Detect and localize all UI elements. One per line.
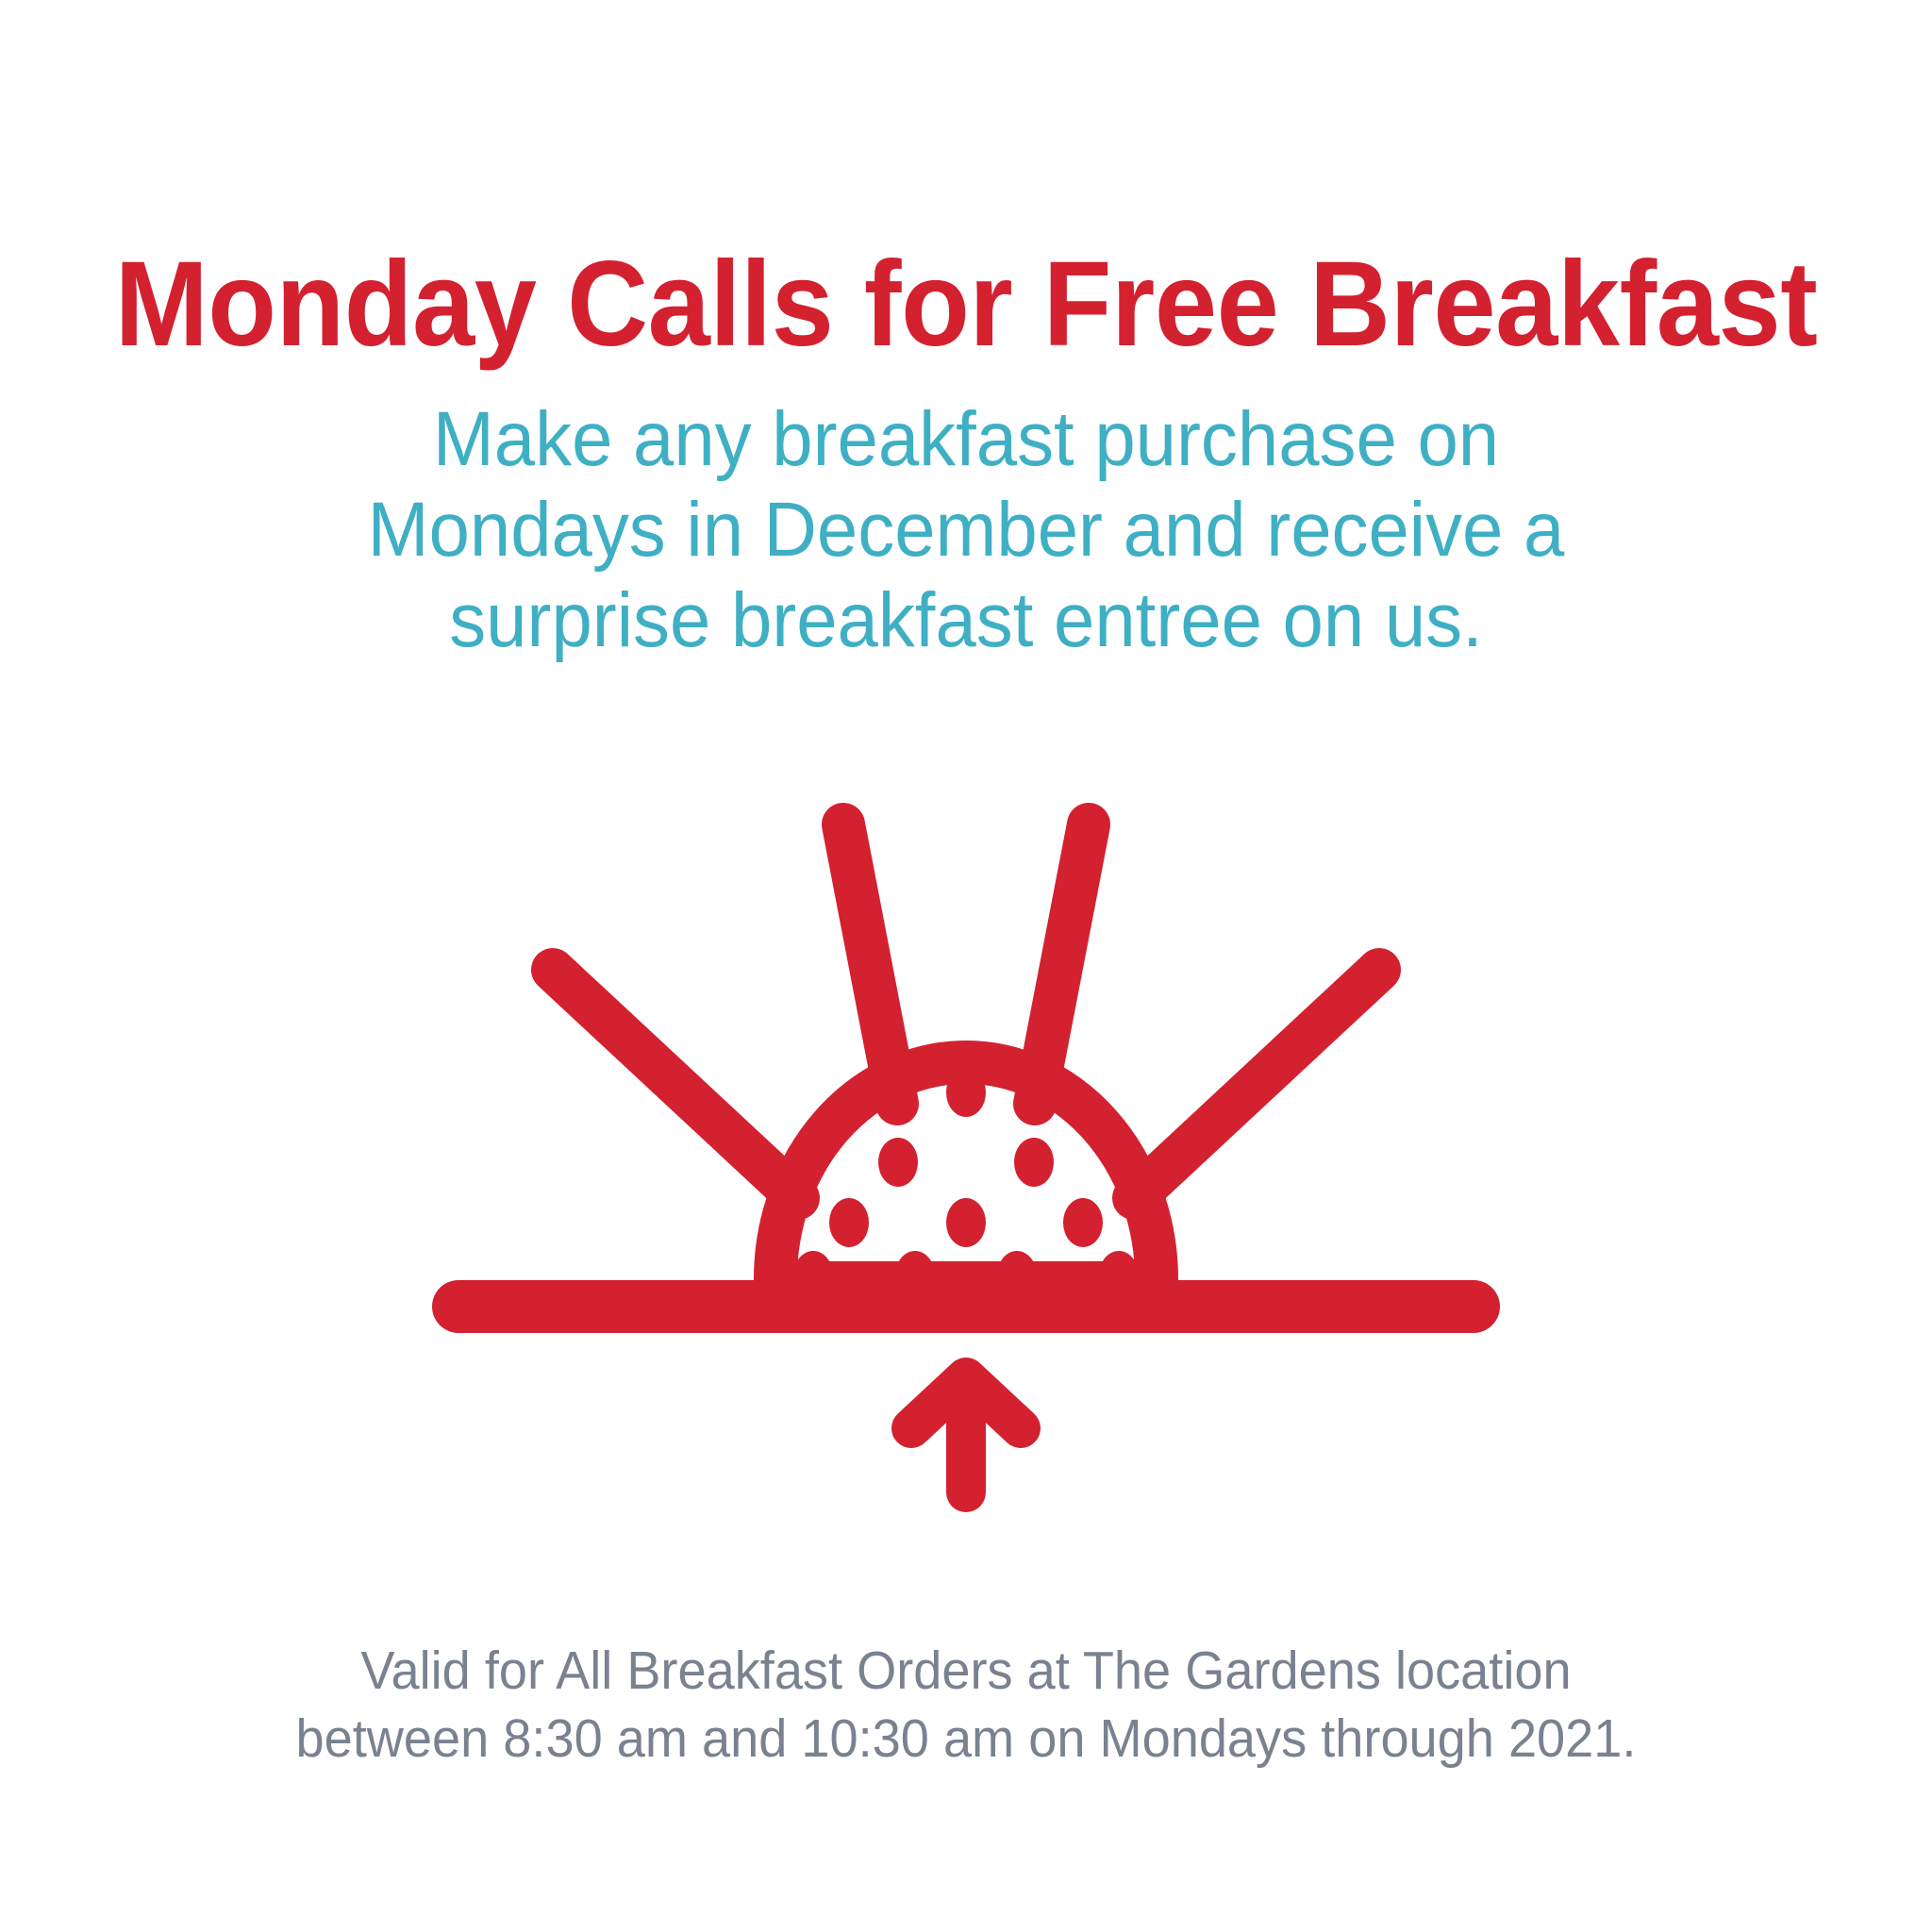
terms-line-2: between 8:30 am and 10:30 am on Mondays … <box>48 1705 1884 1773</box>
ray-outer-left <box>553 970 798 1198</box>
sun-dot-r2-1 <box>829 1198 869 1247</box>
terms-line-1: Valid for All Breakfast Orders at The Ga… <box>48 1637 1884 1705</box>
sun-dot-r2-3 <box>1063 1198 1103 1247</box>
page-title: Monday Calls for Free Breakfast <box>68 240 1865 370</box>
up-arrow-icon <box>911 1377 1021 1492</box>
terms-and-conditions: Valid for All Breakfast Orders at The Ga… <box>48 1637 1884 1774</box>
offer-description-line-2: Mondays in December and receive a <box>48 485 1884 575</box>
sun-dot-r1-2 <box>1014 1138 1054 1187</box>
offer-description-line-3: surprise breakfast entree on us. <box>48 575 1884 666</box>
ray-outer-right <box>1134 970 1379 1198</box>
sunrise-icon <box>428 792 1504 1528</box>
sun-rays-group <box>553 824 1379 1198</box>
sun-dot-r1-1 <box>878 1138 918 1187</box>
offer-description-line-1: Make any breakfast purchase on <box>48 394 1884 485</box>
offer-description: Make any breakfast purchase on Mondays i… <box>48 394 1884 666</box>
promotional-card: Monday Calls for Free Breakfast Make any… <box>0 0 1932 1932</box>
sun-dot-apex <box>946 1068 986 1117</box>
sunrise-illustration <box>0 792 1932 1528</box>
sun-dot-r2-2 <box>946 1198 986 1247</box>
